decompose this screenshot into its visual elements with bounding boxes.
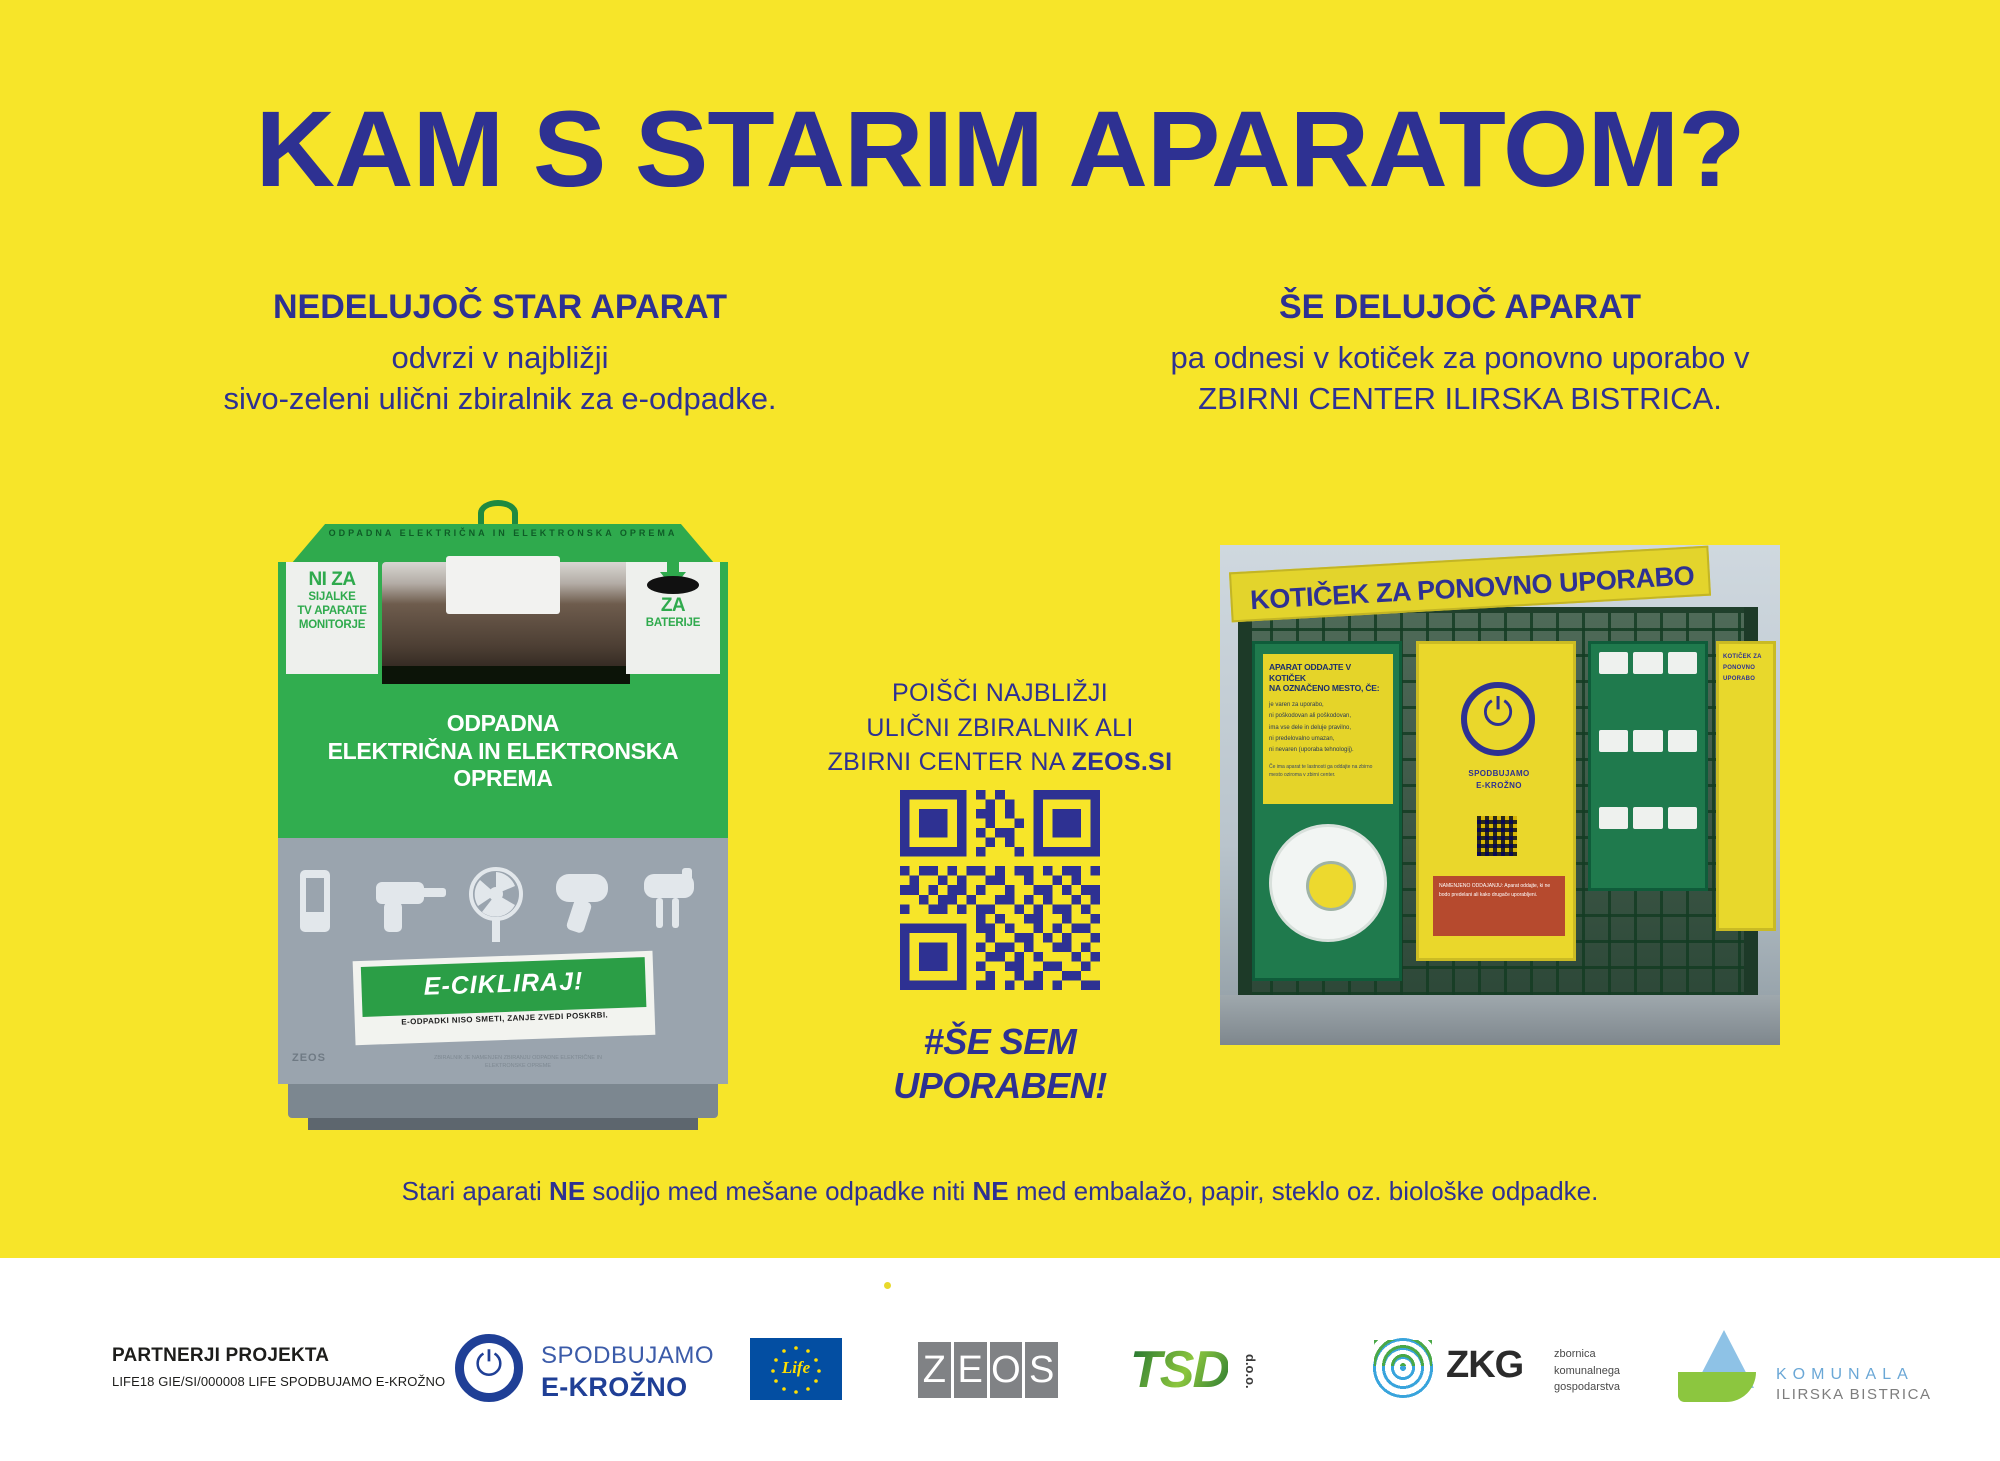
cage-info-item-4: ni predelovalno umazan, — [1269, 734, 1387, 745]
right-column-line-1: pa odnesi v kotiček za ponovno uporabo v — [1040, 338, 1880, 379]
cage-post-left — [1238, 607, 1252, 1027]
cage-info-heading-2: NA OZNAČENO MESTO, ČE: — [1269, 683, 1387, 694]
bin-main-line-2: ELEKTRIČNA IN ELEKTRONSKA — [278, 738, 728, 766]
right-column-line-2: ZBIRNI CENTER ILIRSKA BISTRICA. — [1040, 379, 1880, 420]
appliance-icon-2 — [1633, 652, 1662, 674]
disclaimer-part-3: med embalažo, papir, steklo oz. biološke… — [1009, 1176, 1599, 1206]
appliance-icon-8 — [1633, 807, 1662, 829]
partners-title: PARTNERJI PROJEKTA — [112, 1345, 329, 1367]
cage-brand-line-2: E-KROŽNO — [1419, 780, 1579, 792]
cage-red-note-panel: NAMENJENO ODDAJANJU: Aparat oddajte, ki … — [1433, 876, 1565, 936]
sticker-green-field: E-CIKLIRAJ! — [361, 957, 647, 1017]
drill-icon — [376, 882, 446, 932]
qr-code-svg[interactable] — [874, 790, 1126, 990]
bin-for-label: ZA — [626, 596, 720, 616]
qr-caption-website: ZEOS.SI — [1072, 748, 1173, 776]
appliance-icon-6 — [1668, 730, 1697, 752]
bin-base — [288, 1084, 718, 1118]
logo-zeos: Z E O S — [918, 1342, 1058, 1398]
left-column-line-1: odvrzi v najbližji — [90, 338, 910, 379]
cage-mini-qr-icon — [1477, 816, 1517, 856]
logo-zkg: ZKG zbornica komunalnega gospodarstva — [1370, 1334, 1660, 1404]
disclaimer-text: Stari aparati NE sodijo med mešane odpad… — [0, 1176, 2000, 1207]
komunala-line-2: ILIRSKA BISTRICA — [1776, 1386, 1932, 1403]
zkg-wordmark: ZKG — [1446, 1344, 1523, 1387]
left-column-line-2: sivo-zeleni ulični zbiralnik za e-odpadk… — [90, 379, 910, 420]
disclaimer-bold-2: NE — [973, 1176, 1009, 1206]
qr-caption: POIŠČI NAJBLIŽJI ULIČNI ZBIRALNIK ALI ZB… — [800, 676, 1200, 780]
cage-ground — [1220, 995, 1780, 1045]
disclaimer-part-1: Stari aparati — [402, 1176, 549, 1206]
disclaimer-bold-1: NE — [549, 1176, 585, 1206]
qr-caption-line-2: ULIČNI ZBIRALNIK ALI — [800, 711, 1200, 746]
cage-info-yellow-board: APARAT ODDAJTE V KOTIČEK NA OZNAČENO MES… — [1263, 654, 1393, 804]
cage-side-panel-text: KOTIČEK ZA PONOVNO UPORABO — [1719, 644, 1773, 692]
hashtag-line-1: #ŠE SEM — [820, 1020, 1180, 1064]
hairdryer-icon — [556, 874, 608, 934]
battery-slot-icon — [647, 576, 699, 594]
poster-canvas: KAM S STARIM APARATOM? NEDELUJOČ STAR AP… — [0, 0, 2000, 1258]
reuse-corner-photo: APARAT ODDAJTE V KOTIČEK NA OZNAČENO MES… — [1220, 545, 1780, 1045]
zkg-tagline-line-3: gospodarstva — [1554, 1379, 1620, 1396]
bin-not-for-item-1: SIJALKE — [286, 590, 378, 604]
qr-caption-line-1: POIŠČI NAJBLIŽJI — [800, 676, 1200, 711]
life-wordmark: Life — [750, 1358, 842, 1378]
bin-top-caption: ODPADNA ELEKTRIČNA IN ELEKTRONSKA OPREMA — [286, 528, 720, 538]
bin-battery-panel: ZA BATERIJE — [626, 562, 720, 674]
bin-batteries-label: BATERIJE — [626, 616, 720, 630]
disclaimer-part-2: sodijo med mešane odpadke niti — [585, 1176, 972, 1206]
cage-red-note-text: NAMENJENO ODDAJANJU: Aparat oddajte, ki … — [1433, 876, 1565, 905]
zkg-tagline: zbornica komunalnega gospodarstva — [1554, 1346, 1620, 1396]
plug-badge-icon — [1461, 682, 1535, 756]
fan-icon — [471, 869, 521, 942]
cage-info-note: Če ima aparat te lastnosti ga oddajte na… — [1269, 763, 1387, 779]
logo-spodbujamo-line-2: E-KROŽNO — [541, 1372, 687, 1403]
bin-chute — [382, 562, 630, 682]
zeos-letter-o: O — [990, 1342, 1023, 1398]
appliance-icons-row — [278, 856, 728, 952]
qr-caption-line-3: ZBIRNI CENTER NA ZEOS.SI — [800, 745, 1200, 780]
qr-caption-line-3-prefix: ZBIRNI CENTER NA — [828, 748, 1072, 776]
logo-eu-life: Life — [750, 1338, 842, 1400]
bin-main-line-3: OPREMA — [278, 765, 728, 793]
zkg-tagline-line-1: zbornica — [1554, 1346, 1620, 1363]
tsd-wordmark: TSD — [1130, 1340, 1228, 1400]
left-column-body: odvrzi v najbližji sivo-zeleni ulični zb… — [90, 338, 910, 420]
bin-zeos-brand: ZEOS — [292, 1052, 326, 1064]
cage-info-item-3: ima vse dele in deluje pravilno, — [1269, 723, 1387, 734]
green-hill-icon — [1678, 1372, 1756, 1402]
zkg-mark-icon — [1370, 1338, 1436, 1398]
bin-chute-shadow — [382, 666, 630, 684]
partners-subtitle: LIFE18 GIE/SI/000008 LIFE SPODBUJAMO E-K… — [112, 1374, 445, 1389]
zeos-letter-e: E — [954, 1342, 987, 1398]
mixer-icon — [644, 868, 694, 928]
appliance-icon-1 — [1599, 652, 1628, 674]
right-column-heading: ŠE DELUJOČ APARAT — [1080, 288, 1840, 327]
bin-not-for-item-3: MONITORJE — [286, 618, 378, 632]
cage-info-heading-1: APARAT ODDAJTE V KOTIČEK — [1269, 662, 1387, 683]
appliance-icon-5 — [1633, 730, 1662, 752]
down-arrow-stem-icon — [667, 562, 679, 572]
left-column-heading: NEDELUJOČ STAR APARAT — [120, 288, 880, 327]
zeos-letter-z: Z — [918, 1342, 951, 1398]
logo-komunala-ilirska-bistrica: KOMUNALA ILIRSKA BISTRICA — [1672, 1330, 1932, 1408]
bin-left-warning-panel: NI ZA SIJALKE TV APARATE MONITORJE — [286, 562, 378, 674]
bin-grey-section: E-CIKLIRAJ! E-ODPADKI NISO SMETI, ZANJE … — [278, 838, 728, 1084]
bin-green-body: NI ZA SIJALKE TV APARATE MONITORJE ZA BA… — [278, 562, 728, 1022]
cage-brand-panel: SPODBUJAMO E-KROŽNO NAMENJENO ODDAJANJU:… — [1416, 641, 1576, 961]
right-column-body: pa odnesi v kotiček za ponovno uporabo v… — [1040, 338, 1880, 420]
bin-not-for-label: NI ZA — [286, 570, 378, 590]
street-collection-bin-photo: ODPADNA ELEKTRIČNA IN ELEKTRONSKA OPREMA… — [278, 500, 728, 1100]
hashtag-line-2: UPORABEN! — [820, 1064, 1180, 1108]
bin-fine-print: ZBIRALNIK JE NAMENJEN ZBIRANJU ODPADNE E… — [428, 1054, 608, 1071]
appliance-icon-3 — [1668, 652, 1697, 674]
cage-info-list: je varen za uporabo, ni poškodovan ali p… — [1269, 700, 1387, 757]
logo-spodbujamo-e-krozno: SPODBUJAMO E-KROŽNO — [455, 1330, 705, 1410]
footer-dot-marker — [884, 1282, 891, 1289]
appliance-icon-9 — [1668, 807, 1697, 829]
cage-cycle-diagram — [1269, 824, 1387, 942]
bin-main-caption: ODPADNA ELEKTRIČNA IN ELEKTRONSKA OPREMA — [278, 710, 728, 793]
cage-appliance-icon-board — [1588, 641, 1708, 891]
cage-info-item-5: ni nevaren (uporaba tehnologij). — [1269, 745, 1387, 756]
cage-info-panel: APARAT ODDAJTE V KOTIČEK NA OZNAČENO MES… — [1252, 641, 1402, 981]
logo-tsd: TSD d.o.o. — [1130, 1338, 1290, 1400]
bin-handle-icon — [478, 500, 518, 526]
komunala-line-1: KOMUNALA — [1776, 1366, 1914, 1384]
hashtag-slogan: #ŠE SEM UPORABEN! — [820, 1020, 1180, 1108]
cage-info-item-2: ni poškodovan ali poškodovan, — [1269, 711, 1387, 722]
appliance-icons-svg — [278, 856, 728, 952]
plug-circle-icon — [455, 1334, 523, 1402]
appliance-icon-7 — [1599, 807, 1628, 829]
sticker-title: E-CIKLIRAJ! — [361, 965, 646, 1004]
bin-not-for-item-2: TV APARATE — [286, 604, 378, 618]
cage-brand-line-1: SPODBUJAMO — [1419, 768, 1579, 780]
tsd-suffix: d.o.o. — [1243, 1354, 1258, 1389]
appliance-icon-4 — [1599, 730, 1628, 752]
page-title: KAM S STARIM APARATOM? — [0, 86, 2000, 211]
qr-code[interactable] — [874, 790, 1126, 990]
cage-info-item-1: je varen za uporabo, — [1269, 700, 1387, 711]
zeos-letter-s: S — [1025, 1342, 1058, 1398]
cage-side-yellow-panel: KOTIČEK ZA PONOVNO UPORABO — [1716, 641, 1776, 931]
bin-feet — [308, 1118, 698, 1130]
e-cikliraj-sticker: E-CIKLIRAJ! E-ODPADKI NISO SMETI, ZANJE … — [353, 951, 656, 1045]
cage-brand-text: SPODBUJAMO E-KROŽNO — [1419, 768, 1579, 792]
logo-spodbujamo-line-1: SPODBUJAMO — [541, 1342, 714, 1370]
zkg-tagline-line-2: komunalnega — [1554, 1363, 1620, 1380]
bin-main-line-1: ODPADNA — [278, 710, 728, 738]
